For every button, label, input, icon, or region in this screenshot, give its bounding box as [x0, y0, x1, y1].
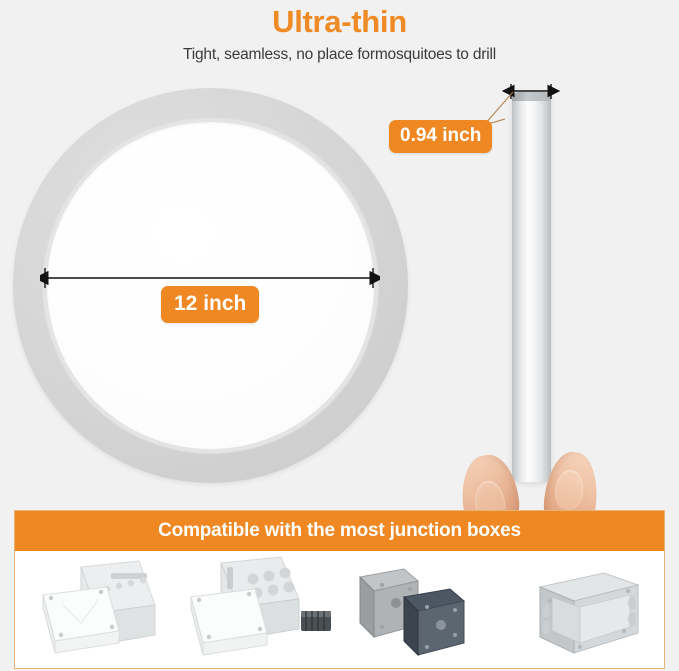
junction-box-item-4	[502, 551, 664, 669]
junction-box-gallery	[15, 551, 664, 669]
page-title: Ultra-thin	[0, 4, 679, 40]
junction-box-item-1	[15, 551, 177, 669]
junction-box-item-2	[177, 551, 339, 669]
white-plastic-junction-box-with-lid-icon	[15, 553, 185, 671]
diameter-badge: 12 inch	[161, 286, 259, 323]
junction-box-item-3	[340, 551, 502, 669]
galvanized-steel-junction-box-icon	[520, 557, 679, 671]
page-subtitle: Tight, seamless, no place formosquitoes …	[0, 46, 679, 64]
panel-top-edge-face	[512, 92, 551, 101]
compatibility-banner-title: Compatible with the most junction boxes	[15, 511, 664, 551]
infographic-canvas: Ultra-thin Tight, seamless, no place for…	[0, 0, 679, 671]
right-fingernail	[553, 468, 585, 511]
metal-square-junction-boxes-pair-icon	[342, 555, 512, 671]
white-plastic-junction-box-with-terminal-block-icon	[177, 553, 347, 671]
panel-side-view	[512, 92, 551, 482]
compatibility-card: Compatible with the most junction boxes	[14, 510, 665, 669]
thickness-badge: 0.94 inch	[389, 120, 492, 153]
